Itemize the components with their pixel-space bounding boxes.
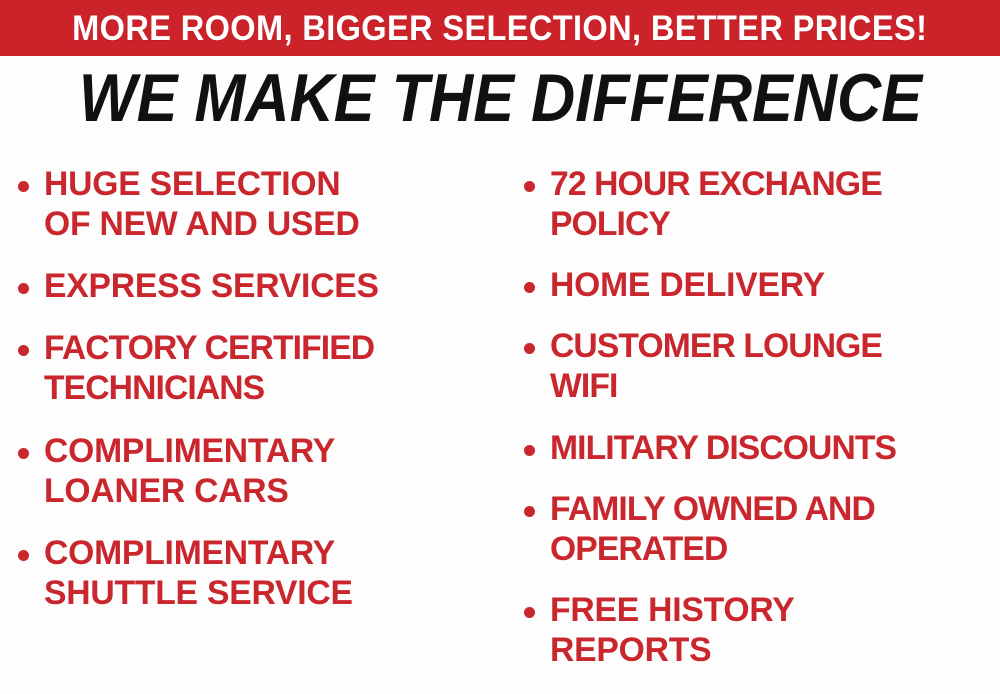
list-item: HUGE SELECTION OF NEW AND USED — [18, 164, 505, 244]
bullet-dot-icon — [18, 164, 44, 192]
list-item: COMPLIMENTARY SHUTTLE SERVICE — [18, 533, 505, 613]
bullet-dot-icon — [524, 265, 550, 293]
headline: WE MAKE THE DIFFERENCE — [0, 64, 1000, 133]
list-item-label: MILITARY DISCOUNTS — [550, 428, 996, 468]
bullet-dot-icon — [524, 164, 550, 192]
benefits-column-right: 72 HOUR EXCHANGE POLICY HOME DELIVERY CU… — [505, 158, 1000, 691]
bullet-dot-icon — [18, 328, 44, 356]
list-item: HOME DELIVERY — [524, 265, 1000, 305]
bullet-dot-icon — [18, 533, 44, 561]
list-item-label: CUSTOMER LOUNGE WIFI — [550, 326, 996, 406]
bullet-dot-icon — [524, 428, 550, 456]
list-item-label: 72 HOUR EXCHANGE POLICY — [550, 164, 996, 244]
advertisement-banner: MORE ROOM, BIGGER SELECTION, BETTER PRIC… — [0, 0, 1000, 694]
list-item: CUSTOMER LOUNGE WIFI — [524, 326, 1000, 406]
benefits-column-left: HUGE SELECTION OF NEW AND USED EXPRESS S… — [0, 158, 505, 635]
list-item-label: FAMILY OWNED AND OPERATED — [550, 489, 996, 569]
list-item: FACTORY CERTIFIED TECHNICIANS — [18, 328, 505, 408]
list-item-label: EXPRESS SERVICES — [44, 266, 500, 306]
list-item: MILITARY DISCOUNTS — [524, 428, 1000, 468]
bullet-dot-icon — [18, 266, 44, 294]
list-item-label: FACTORY CERTIFIED TECHNICIANS — [44, 328, 500, 408]
list-item: COMPLIMENTARY LOANER CARS — [18, 431, 505, 511]
bullet-dot-icon — [524, 326, 550, 354]
list-item: EXPRESS SERVICES — [18, 266, 505, 306]
bullet-dot-icon — [524, 489, 550, 517]
list-item-label: COMPLIMENTARY LOANER CARS — [44, 431, 500, 511]
list-item: FAMILY OWNED AND OPERATED — [524, 489, 1000, 569]
list-item: 72 HOUR EXCHANGE POLICY — [524, 164, 1000, 244]
list-item-label: FREE HISTORY REPORTS — [550, 590, 996, 670]
list-item: FREE HISTORY REPORTS — [524, 590, 1000, 670]
list-item-label: HOME DELIVERY — [550, 265, 996, 305]
top-promo-banner-text: MORE ROOM, BIGGER SELECTION, BETTER PRIC… — [72, 11, 927, 46]
benefits-columns: HUGE SELECTION OF NEW AND USED EXPRESS S… — [0, 158, 1000, 694]
bullet-dot-icon — [524, 590, 550, 618]
top-promo-banner: MORE ROOM, BIGGER SELECTION, BETTER PRIC… — [0, 0, 1000, 56]
headline-text: WE MAKE THE DIFFERENCE — [78, 64, 921, 133]
list-item-label: COMPLIMENTARY SHUTTLE SERVICE — [44, 533, 500, 613]
list-item-label: HUGE SELECTION OF NEW AND USED — [44, 164, 500, 244]
bullet-dot-icon — [18, 431, 44, 459]
